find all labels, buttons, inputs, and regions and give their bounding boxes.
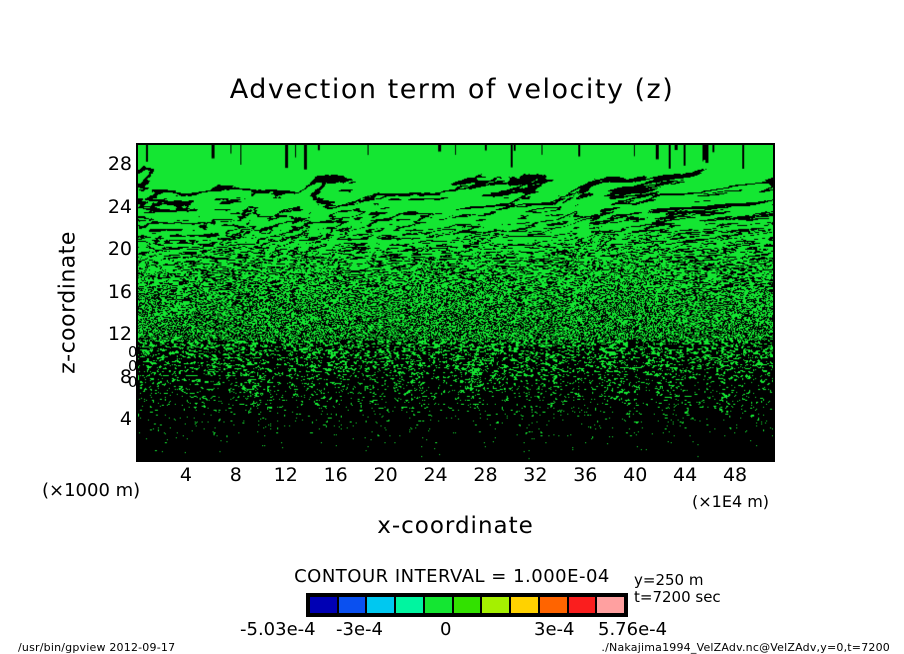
plot-annotations: y=250 m t=7200 sec [634,572,721,606]
x-tick-label: 4 [180,466,192,485]
colorbar-swatch-2 [367,597,396,613]
colorbar-swatch-5 [454,597,483,613]
inline-contour-label: 0 [128,375,138,390]
footer-command: /usr/bin/gpview 2012-09-17 [18,641,175,654]
contour-plot-area[interactable] [136,143,775,462]
colorbar-swatches [310,597,624,613]
x-tick-label: 44 [673,466,697,485]
x-tick-label: 16 [324,466,348,485]
colorbar[interactable] [306,593,628,617]
colorbar-swatch-10 [597,597,624,613]
x-tick-label: 40 [623,466,647,485]
x-tick-label: 48 [723,466,747,485]
footer-datasource: ./Nakajima1994_VelZAdv.nc@VelZAdv,y=0,t=… [601,641,890,654]
x-tick-label: 20 [374,466,398,485]
colorbar-tick-label: 0 [440,621,451,639]
colorbar-tick-label: 5.76e-4 [598,621,667,639]
colorbar-tick-labels: -5.03e-4-3e-403e-45.76e-4 [240,621,700,643]
x-axis-unit-right: (×1E4 m) [692,492,769,511]
colorbar-swatch-3 [396,597,425,613]
x-tick-label: 12 [274,466,298,485]
x-axis-ticks: 4812162024283236404448 [136,466,775,490]
y-axis-ticks: 282420161284 [76,143,132,462]
contour-field-canvas [138,145,773,460]
annotation-t-value: t=7200 sec [634,589,721,606]
colorbar-tick-label: -5.03e-4 [240,621,316,639]
colorbar-tick-label: 3e-4 [534,621,574,639]
inline-contour-label: 0 [128,359,138,374]
colorbar-swatch-1 [339,597,368,613]
inline-contour-labels: 000 [126,143,156,462]
colorbar-swatch-8 [540,597,569,613]
x-axis-title: x-coordinate [136,513,775,539]
x-tick-label: 24 [423,466,447,485]
x-axis-unit-left: (×1000 m) [42,480,140,501]
x-tick-label: 32 [523,466,547,485]
x-tick-label: 8 [230,466,242,485]
page-title: Advection term of velocity (z) [0,74,904,105]
colorbar-tick-label: -3e-4 [336,621,383,639]
x-tick-label: 28 [473,466,497,485]
colorbar-swatch-7 [511,597,540,613]
colorbar-swatch-0 [310,597,339,613]
colorbar-swatch-6 [482,597,511,613]
contour-interval-label: CONTOUR INTERVAL = 1.000E-04 [0,566,904,587]
annotation-y-value: y=250 m [634,572,721,589]
x-tick-label: 36 [573,466,597,485]
colorbar-swatch-4 [425,597,454,613]
colorbar-swatch-9 [569,597,598,613]
